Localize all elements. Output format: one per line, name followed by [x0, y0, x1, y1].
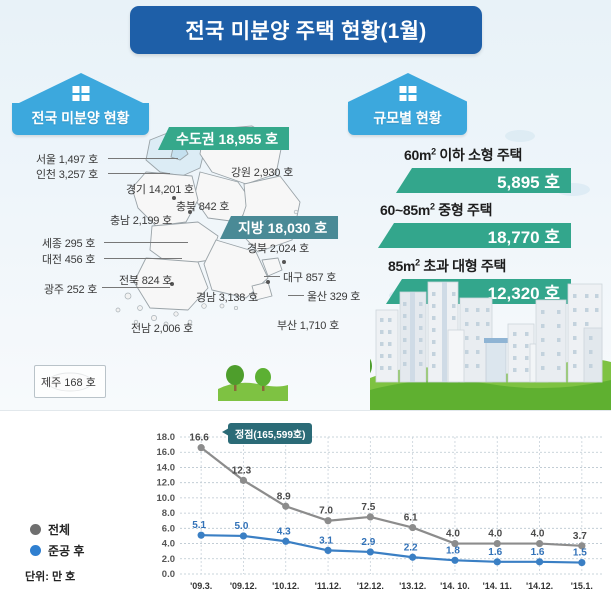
chart-y-axis-ticks: 18.016.014.012.010.08.06.04.02.00.0 — [157, 432, 176, 580]
svg-text:8.9: 8.9 — [277, 491, 291, 502]
svg-text:14.0: 14.0 — [157, 462, 176, 473]
svg-text:'09.3.: '09.3. — [190, 581, 212, 591]
map-marker-ulsan — [282, 260, 286, 264]
svg-text:3.7: 3.7 — [573, 531, 587, 542]
map-label-jeonnam: 전남 2,006 호 — [131, 320, 193, 336]
svg-text:7.5: 7.5 — [361, 502, 375, 513]
page-title: 전국 미분양 주택 현황(1월) — [130, 6, 482, 54]
leader-line-sejong — [104, 242, 188, 243]
city-illustration — [370, 270, 611, 410]
svg-text:12.3: 12.3 — [232, 465, 252, 476]
infographic-root: 전국 미분양 주택 현황(1월) 전국 미분양 현황 규모별 현황 — [0, 0, 611, 603]
svg-text:12.0: 12.0 — [157, 478, 176, 489]
leader-line-daejeon — [104, 258, 182, 259]
svg-text:4.0: 4.0 — [531, 529, 545, 540]
svg-text:1.6: 1.6 — [488, 547, 502, 558]
map-label-gyeongbuk: 경북 2,024 호 — [247, 240, 309, 256]
svg-text:4.0: 4.0 — [162, 539, 175, 550]
svg-text:16.0: 16.0 — [157, 447, 176, 458]
chart-data-labels: 16.612.38.97.07.56.14.04.04.03.75.15.04.… — [189, 433, 587, 559]
svg-text:2.0: 2.0 — [162, 554, 175, 565]
map-label-sejong: 세종 295 호 — [42, 235, 95, 251]
size-row-small: 60m2 이하 소형 주택 5,895 호 — [396, 145, 571, 193]
chart-x-axis-ticks: '09.3.'09.12.'10.12.'11.12.'12.12.'13.12… — [190, 581, 593, 591]
size-title-small: 60m2 이하 소형 주택 — [396, 145, 571, 165]
window-icon — [399, 86, 416, 101]
chart-legend: 전체 준공 후 — [30, 521, 84, 563]
map-label-gangwon: 강원 2,930 호 — [231, 164, 293, 180]
size-title-pre: 60~85m — [380, 202, 430, 218]
leader-line-ulsan — [288, 295, 304, 296]
ribbon-local-region: 지방 18,030 호 — [220, 216, 338, 239]
leader-line-daegu — [264, 276, 280, 277]
map-label-busan: 부산 1,710 호 — [277, 317, 339, 333]
ribbon-capital-label: 수도권 18,955 호 — [176, 129, 278, 149]
size-value-small: 5,895 호 — [396, 168, 571, 193]
svg-text:5.0: 5.0 — [234, 521, 248, 532]
legend-label-completed: 준공 후 — [48, 542, 84, 559]
map-label-gyeonggi: 경기 14,201 호 — [126, 181, 194, 197]
leader-line-incheon — [108, 173, 170, 174]
window-icon — [68, 431, 85, 446]
svg-text:2.2: 2.2 — [404, 542, 418, 553]
map-marker-busan — [266, 280, 270, 284]
house-roof-icon — [12, 73, 149, 103]
svg-text:'09.12.: '09.12. — [230, 581, 257, 591]
svg-text:1.5: 1.5 — [573, 548, 587, 559]
legend-label-total: 전체 — [48, 521, 70, 538]
cloud-decor — [505, 130, 535, 142]
svg-text:1.8: 1.8 — [446, 545, 460, 556]
svg-text:4.3: 4.3 — [277, 526, 291, 537]
map-label-ulsan: 울산 329 호 — [307, 288, 360, 304]
chart-plot: 18.016.014.012.010.08.06.04.02.00.0 '09.… — [148, 419, 611, 603]
map-label-incheon: 인천 3,257 호 — [36, 166, 98, 182]
svg-text:0.0: 0.0 — [162, 569, 175, 580]
ribbon-local-label: 지방 18,030 호 — [238, 218, 327, 238]
svg-text:'14. 11.: '14. 11. — [483, 581, 512, 591]
map-label-daegu: 대구 857 호 — [283, 269, 336, 285]
svg-text:'10.12.: '10.12. — [272, 581, 299, 591]
svg-text:4.0: 4.0 — [488, 529, 502, 540]
size-title-post: 이하 소형 주택 — [436, 147, 522, 163]
size-title-post: 중형 주택 — [435, 202, 493, 218]
svg-text:3.1: 3.1 — [319, 535, 333, 546]
size-title-pre: 60m — [404, 147, 431, 163]
svg-text:18.0: 18.0 — [157, 432, 176, 443]
legend-item-completed: 준공 후 — [30, 542, 84, 559]
leader-line-seoul — [108, 158, 178, 159]
svg-text:8.0: 8.0 — [162, 508, 175, 519]
badge-label: 규모별 현황 — [373, 110, 441, 126]
size-value-medium: 18,770 호 — [378, 223, 571, 248]
size-row-medium: 60~85m2 중형 주택 18,770 호 — [378, 200, 571, 248]
ribbon-capital-region: 수도권 18,955 호 — [158, 127, 289, 150]
svg-text:6.0: 6.0 — [162, 523, 175, 534]
chart-unit-label: 단위: 만 호 — [25, 568, 75, 584]
svg-text:2.9: 2.9 — [361, 537, 375, 548]
house-roof-icon — [348, 73, 467, 103]
map-label-gwangju: 광주 252 호 — [44, 281, 97, 297]
svg-text:4.0: 4.0 — [446, 529, 460, 540]
svg-text:7.0: 7.0 — [319, 506, 333, 517]
svg-text:'15.1.: '15.1. — [571, 581, 593, 591]
svg-text:'12.12.: '12.12. — [357, 581, 384, 591]
map-label-jeju: 제주 168 호 — [41, 374, 96, 390]
svg-text:'13.12.: '13.12. — [399, 581, 426, 591]
window-icon — [72, 86, 89, 101]
map-label-chungbuk: 충북 842 호 — [176, 198, 229, 214]
legend-swatch-total — [30, 524, 41, 535]
page-title-text: 전국 미분양 주택 현황(1월) — [185, 15, 426, 45]
map-label-gyeongnam: 경남 3,138 호 — [196, 289, 258, 305]
legend-swatch-completed — [30, 545, 41, 556]
svg-text:5.1: 5.1 — [192, 520, 206, 531]
tree-illustration — [218, 355, 288, 401]
map-label-chungnam: 충남 2,199 호 — [110, 212, 172, 228]
map-label-jeonbuk: 전북 824 호 — [119, 272, 172, 288]
svg-text:1.6: 1.6 — [531, 547, 545, 558]
svg-text:16.6: 16.6 — [189, 433, 209, 444]
svg-text:10.0: 10.0 — [157, 493, 176, 504]
chart-series-group — [198, 444, 586, 566]
svg-text:'14.12.: '14.12. — [526, 581, 553, 591]
map-label-daejeon: 대전 456 호 — [42, 251, 95, 267]
svg-text:'11.12.: '11.12. — [315, 581, 342, 591]
size-title-medium: 60~85m2 중형 주택 — [378, 200, 571, 220]
svg-text:'14. 10.: '14. 10. — [440, 581, 470, 591]
legend-item-total: 전체 — [30, 521, 84, 538]
map-label-seoul: 서울 1,497 호 — [36, 151, 98, 167]
chart-peak-annotation: 정점(165,599호) — [228, 423, 312, 444]
svg-text:6.1: 6.1 — [404, 513, 418, 524]
